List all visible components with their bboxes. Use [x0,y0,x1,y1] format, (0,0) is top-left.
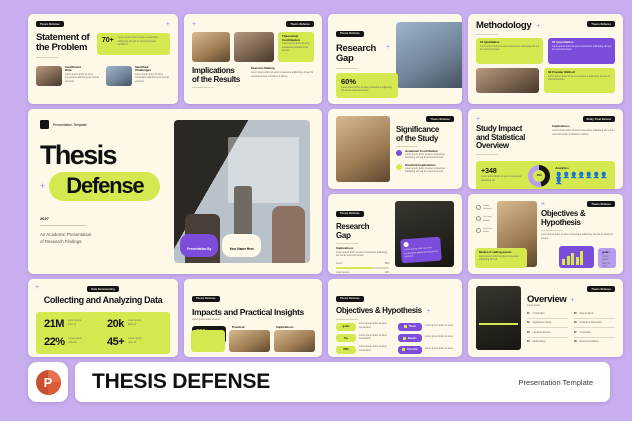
slide-subtitle: Lorem ipsum [527,305,615,309]
card-desc: Lorem ipsum dolor sit amet consectetur a… [480,46,539,53]
stat-desc: Lorem ipsum dolor sit [128,338,141,345]
plus-icon: + [541,201,545,208]
toc-num: 04 [527,341,530,345]
toc-num: 01 [527,313,530,317]
photo-thumbnail [234,32,274,62]
method-card-popular-method: 03 Popular Method Lorem ipsum dolor sit … [544,68,615,93]
row-item: 70+ Lorem ipsum dolor sit amet consectet… [336,334,392,342]
slide-title: Research Gap [336,44,392,65]
toc-num: 03 [527,332,530,336]
plus-icon: + [35,284,39,291]
item-desc: Lorem ipsum dolor sit amet consectetur a… [405,154,454,161]
card-label: Insufficient Data [65,66,100,73]
bullet-dot-lime [396,164,402,170]
slide-objectives-hypothesis-1[interactable]: Thesis Research Our Goal Setting Key Poi… [468,194,623,274]
card-desc: Lorem ipsum dolor sit amet consectetur a… [404,247,439,260]
row-item: 65% Lorem ipsum dolor sit amet consectet… [336,346,392,354]
toc-item[interactable]: 05Data Analysis [574,313,615,319]
slide-tag: Thesis Defense [336,211,364,217]
photo-thumbnail [106,66,132,86]
slide-study-impact-statistical-overview[interactable]: + Study Final Review Study Impact and St… [468,109,623,189]
hero-photo: Presentation By Your Name Here [174,120,310,263]
bar-label: Lorem [336,263,343,267]
your-name-button[interactable]: Your Name Here [222,234,261,257]
stats-panel: 21M Lorem ipsum dolor sit 20k Lorem ipsu… [36,312,170,354]
page-title: THESIS DEFENSE [92,370,270,394]
card-desc: Lorem ipsum dolor sit amet consectetur a… [135,74,170,85]
card-label: Identified Challenges [135,66,170,73]
footer-bar: P THESIS DEFENSE Presentation Template [28,362,610,402]
divider [336,68,358,69]
hero-title-line1: Thesis [40,143,164,169]
toc-item[interactable]: 06Findings & Discussion [574,322,615,328]
item-label: Key Point Values [483,228,492,234]
slide-subtitle: Lorem ipsum dolor sit amet [192,319,314,323]
stat-desc: Lorem ipsum dolor sit amet consectetur a… [341,87,393,94]
toc-item[interactable]: 07Conclusion [574,332,615,338]
hero-year: 2027 [40,216,164,221]
slide-hero-thesis-defense[interactable]: Presentation Template Thesis + Defense 2… [28,109,322,274]
stat-desc: Lorem ipsum dolor sit amet consectetur a… [118,37,165,48]
plus-icon: + [166,21,170,28]
slide-title: Overview [527,295,566,305]
slide-title: Study Impact and Statistical Overview [476,125,545,151]
title-bar: THESIS DEFENSE Presentation Template [75,362,610,402]
slide-objectives-hypothesis-2[interactable]: Thesis Defense Objectives & Hypothesis +… [328,279,462,357]
stat-value: 22% [44,336,65,348]
hero-subtitle: An Academic Presentation of Research Fin… [40,231,164,246]
slide-title: Research Gap [336,223,389,240]
powerpoint-icon[interactable]: P [28,362,68,402]
presenter-figure [234,186,252,240]
powerpoint-letter: P [36,370,61,395]
accent-line [479,323,518,325]
card-bar-chart [559,246,594,268]
progress-row: Lorem 68% [336,263,389,269]
pill-label: 70+ [344,337,348,340]
bar [567,256,570,265]
bar-value: 42% [385,272,390,274]
stat-value: 21M [44,318,64,330]
slide-implications-of-the-results[interactable]: + Thesis Defense Theoretical Contributio… [184,14,322,104]
divider [192,87,214,88]
divider [396,146,418,147]
slide-title: Objectives & Hypothesis [541,210,615,227]
presentation-by-button[interactable]: Presentation By [180,234,218,257]
stat-card: 60% Lorem ipsum dolor sit amet consectet… [336,73,398,98]
card-icon [404,242,409,247]
toc-item[interactable]: 03Literature Review [527,332,568,338]
divider [40,225,86,226]
slide-significance-of-the-study[interactable]: Thesis Defense Significance of the Study… [328,109,462,189]
divider [336,243,358,244]
stat-item: 22% Lorem ipsum dolor sit [44,336,99,348]
plus-icon: + [192,21,196,28]
toc-label: Methodology [533,341,546,345]
list-item: Key Point Values [476,228,493,234]
hero-title-line2: Defense [66,173,143,198]
slide-tag: Thesis Defense [426,116,454,122]
stat-desc: Lorem ipsum dolor sit [69,338,82,345]
circle-icon [476,228,481,233]
row-desc: Lorem ipsum dolor sit amet consectetur. [359,323,392,330]
toc-num: 05 [574,313,577,317]
divider [476,34,498,35]
slide-tag: Thesis Defense [336,296,364,302]
row-item: goals Lorem ipsum dolor sit amet consect… [336,323,392,331]
bar-value: 68% [385,263,390,267]
card-desc: Lorem ipsum dolor sit amet consectetur a… [479,256,523,263]
stat-item: 45+ Lorem ipsum dolor sit [107,336,162,348]
list-item: Our Goal Setting [476,216,493,222]
bar [576,257,579,265]
plus-icon: + [536,23,540,30]
card-desc: Lorem ipsum dolor sit amet consectetur a… [65,74,100,85]
highlight-card: Theoretical Contribution Lorem ipsum dol… [278,32,314,62]
toc-label: Introduction [533,313,545,317]
toc-num: 02 [527,322,530,326]
toc-num: 07 [574,332,577,336]
card-label: goal+ [602,251,612,255]
stat-value: 70+ [102,37,114,44]
slide-tag: Thesis Defense [587,201,615,207]
item-desc: Lorem ipsum dolor sit amet consectetur a… [405,168,454,175]
pill-label: Results [408,337,417,340]
section-label: Implications [552,125,615,129]
bullet-item: Practical Implications Lorem ipsum dolor… [396,164,454,175]
card-desc: Lorem ipsum dolor sit amet. [602,256,612,270]
bar [571,253,574,265]
logo-label: Presentation Template [53,123,87,127]
donut-chart: 46% [528,165,550,187]
divider [36,57,58,58]
slide-tag: Thesis Defense [36,21,64,27]
plus-icon: + [570,297,574,304]
stat-item: 21M Lorem ipsum dolor sit [44,318,99,330]
toc-num: 08 [574,341,577,345]
overlay-card: Lorem ipsum dolor sit amet consectetur a… [401,237,443,264]
pill-label: Thesis [408,325,416,328]
stat-desc: Lorem ipsum dolor sit [68,320,81,327]
slide-desc: Lorem ipsum dolor sit amet consectetur a… [541,234,615,241]
stat-value: 45+ [107,336,124,348]
section-desc: Lorem ipsum dolor sit amet consectetur a… [336,252,389,259]
photo-thumbnail [396,22,462,88]
plus-icon: + [427,308,431,315]
photo-thumbnail [476,286,521,350]
card-label: Popular Method [552,70,575,74]
circle-icon [476,205,481,210]
photo-thumbnail [36,66,62,86]
stat-value: 20k [107,318,124,330]
card-label: Qualitative [484,40,499,44]
card-desc: Lorem ipsum dolor sit amet consectetur a… [552,46,611,53]
progress-row: Lorem ipsum 42% [336,272,389,274]
card-desc: Lorem ipsum dolor sit amet consectetur a… [282,43,310,54]
divider [336,319,358,320]
stat-item: 20k Lorem ipsum dolor sit [107,318,162,330]
bar [562,259,565,265]
info-card: Identified Challenges Lorem ipsum dolor … [106,66,170,86]
bar [580,251,583,265]
method-card-quantitative: 02 Quantitative Lorem ipsum dolor sit am… [548,38,615,64]
slide-impacts-and-practical-insights[interactable]: Thesis Defense Impacts and Practical Ins… [184,279,322,357]
slide-tag: Thesis Defense [587,21,615,27]
toc-item[interactable]: 02Significance Study [527,322,568,328]
card-num: 03 [548,70,551,74]
slide-tag: Thesis Defense [336,31,364,37]
page-subtitle: Presentation Template [519,378,594,387]
card-label: Quantitative [556,40,573,44]
row-desc: Lorem ipsum dolor sit amet consectetur. [359,346,392,353]
stat-desc: Lorem ipsum dolor sit [128,320,141,327]
list-item: Thesis Research [476,205,493,211]
stat-value: 60% [341,77,393,86]
row-item: Overview Lorem ipsum dolor sit amet. [398,346,454,354]
slide-methodology[interactable]: Methodology + Thesis Defense 01 Qualitat… [468,14,623,104]
section-desc: Lorem ipsum dolor sit amet consectetur a… [552,130,615,137]
row-desc: Lorem ipsum dolor sit amet. [425,325,454,329]
photo-thumbnail [336,116,390,182]
row-desc: Lorem ipsum dolor sit amet. [425,336,454,340]
slide-tag: Thesis Defense [286,21,314,27]
photo-thumbnail [274,330,315,352]
slides-grid: Thesis Defense + Statement of the Proble… [28,14,610,357]
plus-icon: + [386,118,390,125]
square-icon [402,348,405,351]
slide-tag: Thesis Defense [192,296,220,302]
slide-title: Significance of the Study [396,126,454,143]
slide-collecting-and-analyzing-data[interactable]: + Data Documenting Collecting and Analyz… [28,279,178,357]
plus-icon: + [386,44,390,51]
card-label: Theoretical Contribution [282,35,310,42]
slide-title: Impacts and Practical Insights [192,308,314,317]
accent-block [191,330,225,352]
divider [476,154,498,155]
stat-card: 70+ Lorem ipsum dolor sit amet consectet… [97,33,170,55]
card-num: 01 [480,40,483,44]
card-num: 02 [552,40,555,44]
slide-title: Collecting and Analyzing Data [36,296,170,306]
square-icon [403,337,406,340]
donut-center-label: 46% [537,174,542,177]
photo-thumbnail [229,330,270,352]
section-label: Implications [336,247,389,251]
info-card: Insufficient Data Lorem ipsum dolor sit … [36,66,100,86]
toc-item[interactable]: 01Introduction [527,313,568,319]
plus-icon: + [40,182,45,191]
stat-desc: Lorem ipsum dolor sit amet consectetur a… [481,176,523,183]
slide-tag: Thesis Defense [587,286,615,292]
toc-item[interactable]: 08Recommendations [574,341,615,345]
stat-value: +348 [481,168,523,175]
plus-icon: + [476,116,480,123]
pill-label: 65% [343,348,348,351]
slide-tag: Data Documenting [87,286,119,292]
analytics-label: Analytics [555,167,610,171]
card-model-selling-points: Model of selling points Lorem ipsum dolo… [475,248,527,268]
toc-label: Recommendations [580,341,599,345]
toc-label: Significance Study [533,322,552,326]
slide-tag: Study Final Review [583,116,616,122]
section-label: Decision Making [251,67,314,71]
toc-label: Conclusion [580,332,591,336]
pill-label: Overview [407,348,418,351]
slide-research-gap-2[interactable]: Thesis Defense Research Gap Implications… [328,194,462,274]
slide-title: Implications of the Results [192,67,245,84]
circle-icon [476,216,481,221]
hero-title-pill: Defense [49,172,160,201]
toc-item[interactable]: 04Methodology [527,341,568,345]
photo-thumbnail [192,32,230,62]
toc-label: Data Analysis [580,313,594,317]
card-goal: goal+ Lorem ipsum dolor sit amet. [598,248,616,268]
divider [541,230,563,231]
photo-thumbnail [476,68,539,93]
row-desc: Lorem ipsum dolor sit amet consectetur. [359,335,392,342]
pill-label: goals [343,325,350,328]
card-desc: Lorem ipsum dolor sit amet consectetur a… [548,76,611,83]
slide-overview[interactable]: Thesis Defense Overview + Lorem ipsum 01… [468,279,623,357]
slide-title: Objectives & Hypothesis [336,307,422,316]
stats-panel: +348 Lorem ipsum dolor sit amet consecte… [476,161,615,189]
bullet-dot-purple [396,150,402,156]
slide-title: Statement of the Problem [36,33,91,54]
people-pictogram: 👤👤👤👤👤👤👤👤 [555,173,610,185]
audience-figure [272,206,305,263]
bar-label: Lorem ipsum [336,272,349,274]
slides-board: Thesis Defense + Statement of the Proble… [0,0,632,421]
slide-research-gap-1[interactable]: Thesis Defense Research Gap 60% Lorem ip… [328,14,462,104]
item-label: Thesis Research [483,205,492,211]
square-icon [404,325,407,328]
toc-label: Literature Review [533,332,551,336]
slide-statement-of-the-problem[interactable]: Thesis Defense + Statement of the Proble… [28,14,178,104]
card-label: Model of selling points [479,251,523,255]
toc-label: Findings & Discussion [580,322,603,326]
row-item: Thesis Lorem ipsum dolor sit amet. [398,323,454,331]
slide-title: Methodology [476,21,531,31]
item-label: Our Goal Setting [483,216,491,222]
brand-logo-icon [40,120,49,129]
row-desc: Lorem ipsum dolor sit amet. [425,348,454,352]
toc-num: 06 [574,322,577,326]
section-desc: Lorem ipsum dolor sit amet consectetur a… [251,72,314,79]
bullet-item: Academic Contribution Lorem ipsum dolor … [396,150,454,161]
row-item: Results Lorem ipsum dolor sit amet. [398,334,454,342]
method-card-qualitative: 01 Qualitative Lorem ipsum dolor sit ame… [476,38,543,64]
